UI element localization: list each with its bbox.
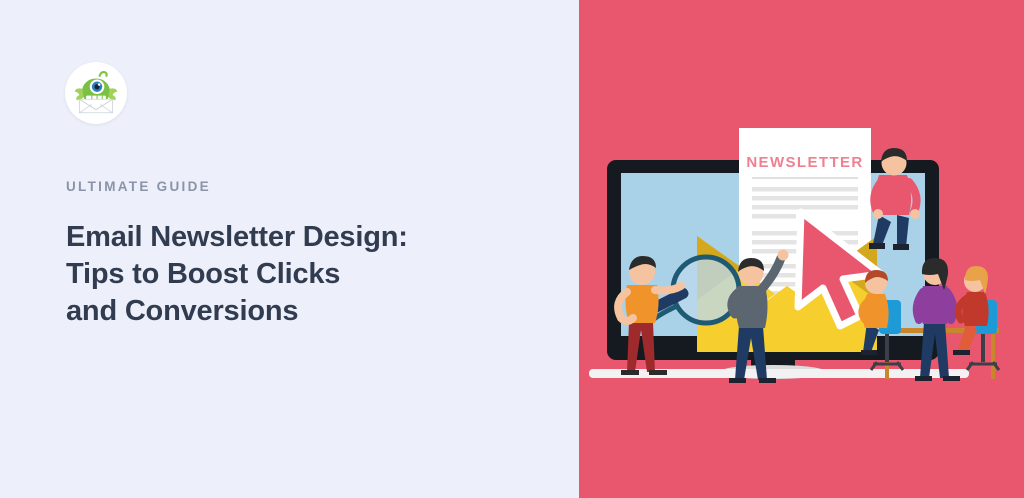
- left-content-panel: ULTIMATE GUIDE Email Newsletter Design: …: [0, 0, 579, 498]
- optinmonster-monster-envelope-logo: [70, 67, 122, 119]
- page-title-line-1: Email Newsletter Design:: [66, 219, 506, 256]
- eyebrow-label: ULTIMATE GUIDE: [66, 179, 211, 194]
- page-title: Email Newsletter Design: Tips to Boost C…: [66, 219, 506, 330]
- office-desk-group: [861, 258, 999, 381]
- brand-logo[interactable]: [65, 62, 127, 124]
- page-title-line-2: Tips to Boost Clicks: [66, 256, 506, 293]
- blog-header-banner: ULTIMATE GUIDE Email Newsletter Design: …: [0, 0, 1024, 498]
- newsletter-title: NEWSLETTER: [746, 154, 863, 171]
- illustration-panel: NEWSLETTER: [579, 0, 1024, 498]
- email-newsletter-marketing-illustration: NEWSLETTER: [579, 0, 1024, 498]
- page-title-line-3: and Conversions: [66, 293, 506, 330]
